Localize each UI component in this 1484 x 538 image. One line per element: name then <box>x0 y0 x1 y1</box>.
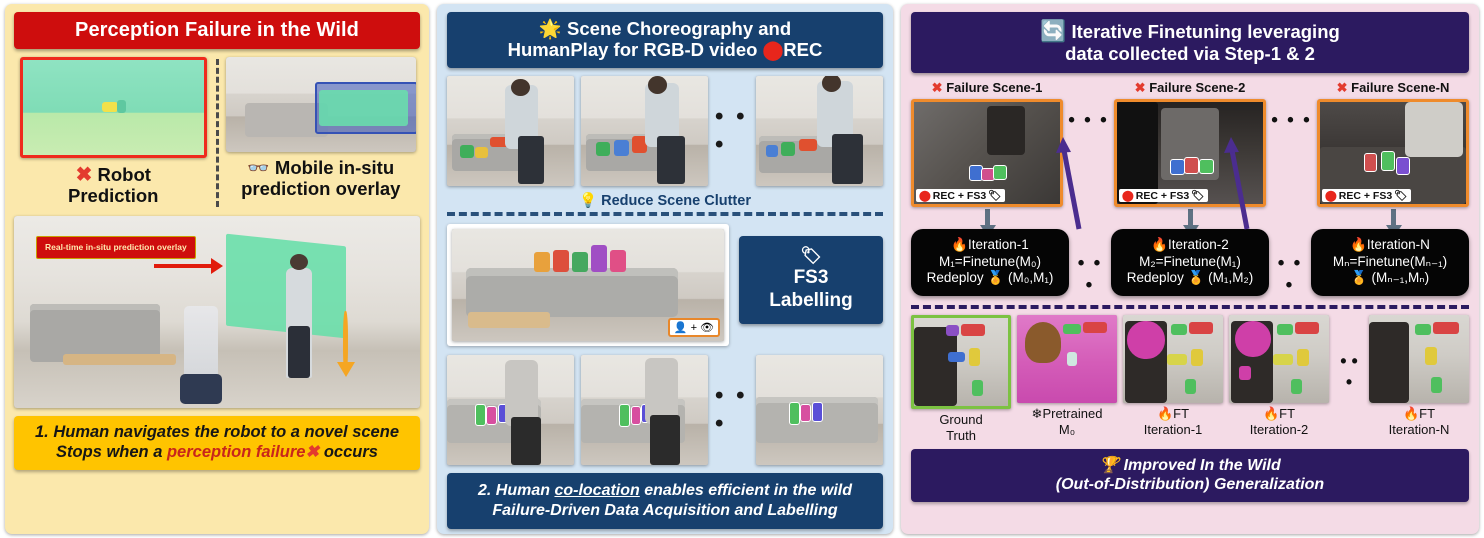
failure-scene-label: ✖ Failure Scene-1 <box>911 80 1063 96</box>
panel3-footer: 🏆 Improved In the Wild (Out-of-Distribut… <box>911 449 1469 502</box>
generalization-pretrained: ❄Pretrained M₀ <box>1017 315 1117 437</box>
iteration-ellipsis-1: • • • <box>1073 229 1107 297</box>
generalization-ft-1: 🔥FT Iteration-1 <box>1123 315 1223 437</box>
failure-scene-1: ✖ Failure Scene-1 ⬤ REC + FS3 🏷 <box>911 80 1063 227</box>
medal-icon: 🏅 <box>1351 270 1368 285</box>
cross-mark-icon: ✖ <box>305 443 319 461</box>
flow-arrow-down <box>1188 209 1193 227</box>
failure-scene-n: ✖ Failure Scene-N ⬤ REC + FS3 🏷 <box>1317 80 1469 227</box>
label-tag-icon: 🏷 <box>1394 189 1407 202</box>
co-location-underline: co-location <box>554 482 639 499</box>
mobile-overlay-caption: 👓 Mobile in-situ prediction overlay <box>222 158 421 199</box>
iteration-formula: M₂=Finetune(M₁) <box>1114 254 1266 270</box>
failure-scene-2: ✖ Failure Scene-2 ⬤ REC + FS3 🏷 <box>1114 80 1266 227</box>
labelled-frame <box>581 355 708 465</box>
panel1-left-column: ✖ Robot Prediction <box>14 57 213 206</box>
human-operator <box>286 268 312 378</box>
cross-mark-icon: ✖ <box>932 80 943 95</box>
robot-body <box>184 306 218 402</box>
generalization-ft-2: 🔥FT Iteration-2 <box>1229 315 1329 437</box>
humanplay-frame <box>581 76 708 186</box>
iteration-title: 🔥Iteration-N <box>1314 237 1466 253</box>
fs3-labelling-box: 🏷 FS3 Labelling <box>739 236 883 324</box>
flow-arrow-down <box>985 209 990 227</box>
failure-scene-ellipsis-1: • • • <box>1067 80 1110 132</box>
panel2-middle-row: 👤 + 👁 🏷 FS3 Labelling <box>447 224 883 346</box>
red-pointer-arrow <box>154 264 220 268</box>
cross-mark-icon: ✖ <box>1337 80 1348 95</box>
panel2-dashed-divider <box>447 212 883 216</box>
snowflake-icon: ❄ <box>1032 406 1043 421</box>
label-tag-icon: 🏷 <box>988 189 1001 202</box>
trophy-icon: 🏆 <box>1099 457 1119 474</box>
iteration-box-n: 🔥Iteration-N Mₙ=Finetune(Mₙ₋₁) 🏅 (Mₙ₋₁,M… <box>1311 229 1469 295</box>
panel-iterative-finetuning: 🔄 Iterative Finetuning leveraging data c… <box>901 4 1479 534</box>
failure-scene-label: ✖ Failure Scene-2 <box>1114 80 1266 96</box>
panel2-title: 🌟 Scene Choreography and HumanPlay for R… <box>447 12 883 68</box>
generalization-image <box>1229 315 1329 403</box>
generalization-label: Ground Truth <box>911 412 1011 443</box>
iteration-formula: M₁=Finetune(M₀) <box>914 254 1066 270</box>
labelled-bottom-strip: • • • <box>447 355 883 465</box>
iteration-formula: Mₙ=Finetune(Mₙ₋₁) <box>1314 254 1466 270</box>
mobile-overlay-image <box>226 57 417 152</box>
iteration-box-2: 🔥Iteration-2 M₂=Finetune(M₁) Redeploy 🏅 … <box>1111 229 1269 295</box>
iteration-title: 🔥Iteration-2 <box>1114 237 1266 253</box>
rec-fs3-badge: ⬤ REC + FS3 🏷 <box>916 189 1005 202</box>
iteration-deploy: Redeploy 🏅 (M₀,M₁) <box>914 270 1066 286</box>
robot-prediction-image <box>20 57 207 158</box>
panel1-right-column: 👓 Mobile in-situ prediction overlay <box>222 57 421 199</box>
failure-scene-image: ⬤ REC + FS3 🏷 <box>1317 99 1469 207</box>
generalization-image <box>911 315 1011 409</box>
red-record-dot-icon: ⬤ <box>1325 190 1337 202</box>
generalization-ellipsis: • • • <box>1335 315 1363 393</box>
refresh-loop-icon: 🔄 <box>1040 20 1066 43</box>
red-record-dot-icon: ⬤ <box>763 39 784 60</box>
generalization-image <box>1123 315 1223 403</box>
strip-ellipsis: • • • <box>715 103 749 159</box>
generalization-label: ❄Pretrained M₀ <box>1017 406 1117 437</box>
fire-icon: 🔥 <box>1403 406 1419 421</box>
generalization-label: 🔥FT Iteration-1 <box>1123 406 1223 437</box>
panel-scene-choreography: 🌟 Scene Choreography and HumanPlay for R… <box>437 4 893 534</box>
iteration-title: 🔥Iteration-1 <box>914 237 1066 253</box>
generalization-label: 🔥FT Iteration-2 <box>1229 406 1329 437</box>
glasses-icon: 👓 <box>247 158 269 178</box>
labelled-frame <box>447 355 574 465</box>
rec-fs3-badge: ⬤ REC + FS3 🏷 <box>1322 189 1411 202</box>
labelled-frame <box>756 355 883 465</box>
generalization-row: Ground Truth ❄Pretrained M₀ <box>911 315 1469 443</box>
failure-scene-row: ✖ Failure Scene-1 ⬤ REC + FS3 🏷 • • • <box>911 80 1469 227</box>
perception-failure-highlight: perception failure <box>167 443 305 461</box>
panel1-title: Perception Failure in the Wild <box>14 12 420 49</box>
iteration-ellipsis-2: • • • <box>1273 229 1307 297</box>
fire-icon: 🔥 <box>1157 406 1173 421</box>
fire-icon: 🔥 <box>1263 406 1279 421</box>
orange-path-arrow <box>343 311 348 373</box>
red-record-dot-icon: ⬤ <box>1122 190 1134 202</box>
fire-icon: 🔥 <box>1350 237 1367 252</box>
humanplay-frame <box>447 76 574 186</box>
fire-icon: 🔥 <box>1151 237 1168 252</box>
iteration-deploy: 🏅 (Mₙ₋₁,Mₙ) <box>1314 270 1466 286</box>
robot-prediction-caption: ✖ Robot Prediction <box>14 164 213 206</box>
flow-arrow-down <box>1391 209 1396 227</box>
label-tag-icon: 🏷 <box>1191 189 1204 202</box>
panel1-footer: 1. Human navigates the robot to a novel … <box>14 416 420 471</box>
generalization-image <box>1017 315 1117 403</box>
generalization-ft-n: 🔥FT Iteration-N <box>1369 315 1469 437</box>
realtime-overlay-callout: Real-time in-situ prediction overlay <box>36 236 196 259</box>
humanplay-frame <box>756 76 883 186</box>
failure-scene-label: ✖ Failure Scene-N <box>1317 80 1469 96</box>
medal-icon: 🏅 <box>1188 270 1205 285</box>
figure-root: Perception Failure in the Wild ✖ Robot P… <box>0 0 1484 538</box>
eye-icon: 👁 <box>700 321 714 334</box>
panel3-title: 🔄 Iterative Finetuning leveraging data c… <box>911 12 1469 73</box>
generalization-image <box>1369 315 1469 403</box>
generalization-ground-truth: Ground Truth <box>911 315 1011 443</box>
iteration-row: 🔥Iteration-1 M₁=Finetune(M₀) Redeploy 🏅 … <box>911 229 1469 297</box>
cross-mark-icon: ✖ <box>76 164 93 186</box>
iteration-deploy: Redeploy 🏅 (M₁,M₂) <box>1114 270 1266 286</box>
person-speaking-icon: 👤 <box>674 321 688 334</box>
humanplay-top-strip: • • • <box>447 76 883 186</box>
panel3-dashed-divider <box>911 305 1469 309</box>
fire-icon: 🔥 <box>951 237 968 252</box>
person-plus-eye-badge: 👤 + 👁 <box>668 318 720 337</box>
strip-ellipsis: • • • <box>715 382 749 438</box>
reduce-clutter-note: 💡 Reduce Scene Clutter <box>447 192 883 209</box>
failure-scene-ellipsis-2: • • • <box>1270 80 1313 132</box>
panel1-divider <box>216 59 219 206</box>
panel2-footer: 2. Human co-location enables efficient i… <box>447 473 883 528</box>
panel1-comparison-row: ✖ Robot Prediction 👓 Mobile in-situ pred… <box>14 57 420 206</box>
panel-perception-failure: Perception Failure in the Wild ✖ Robot P… <box>5 4 429 534</box>
rec-fs3-badge: ⬤ REC + FS3 🏷 <box>1119 189 1208 202</box>
star-icon: 🌟 <box>539 18 562 39</box>
lightbulb-icon: 💡 <box>579 193 597 209</box>
failure-scene-image: ⬤ REC + FS3 🏷 <box>1114 99 1266 207</box>
iteration-box-1: 🔥Iteration-1 M₁=Finetune(M₀) Redeploy 🏅 … <box>911 229 1069 295</box>
label-tag-icon: 🏷 <box>743 246 879 266</box>
failure-scene-image: ⬤ REC + FS3 🏷 <box>911 99 1063 207</box>
fs3-capture-image: 👤 + 👁 <box>452 229 724 341</box>
red-record-dot-icon: ⬤ <box>919 190 931 202</box>
fs3-capture-card: 👤 + 👁 <box>447 224 729 346</box>
robot-navigation-scene-image: Real-time in-situ prediction overlay <box>14 216 420 408</box>
medal-icon: 🏅 <box>987 270 1004 285</box>
generalization-label: 🔥FT Iteration-N <box>1369 406 1469 437</box>
cross-mark-icon: ✖ <box>1135 80 1146 95</box>
